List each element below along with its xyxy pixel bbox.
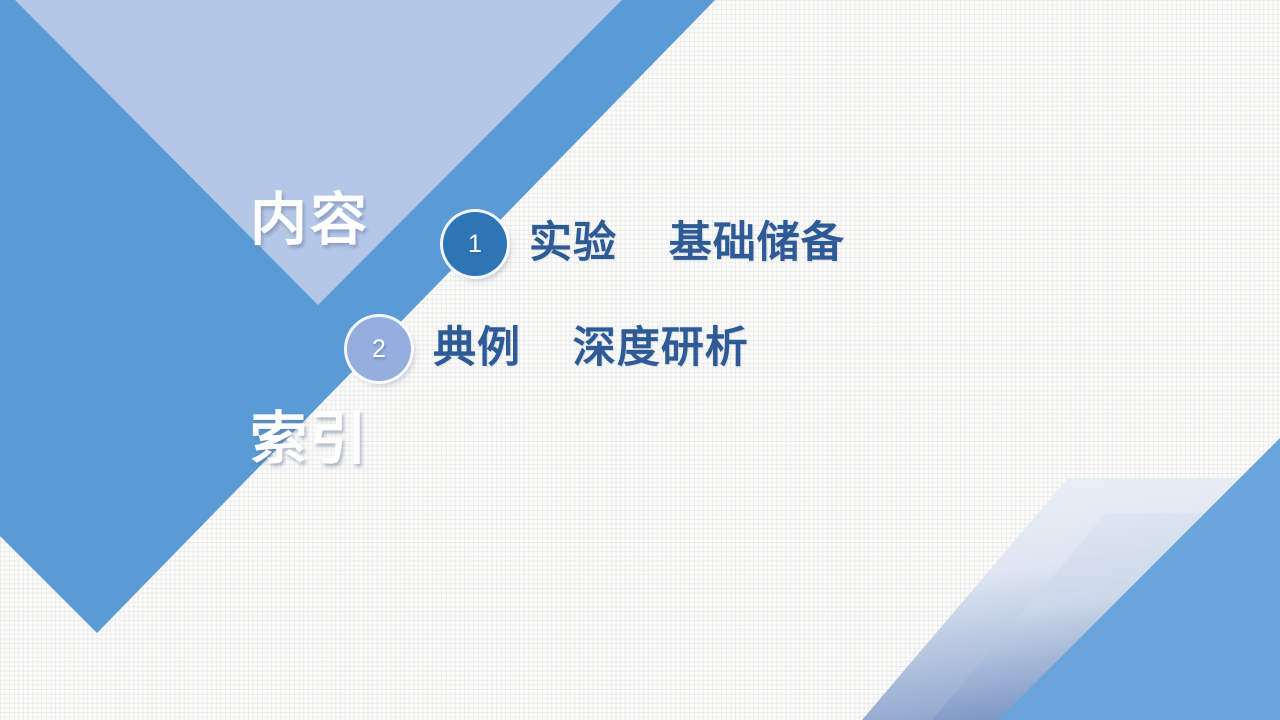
index-label-1: 实验 基础储备 <box>529 220 845 267</box>
index-badge-1[interactable]: 1 <box>443 212 507 276</box>
slide-canvas: 内容 索引 1 实验 基础储备 2 典例 深度研析 <box>0 0 1280 720</box>
index-item-2[interactable]: 2 典例 深度研析 <box>347 317 749 381</box>
index-item-1[interactable]: 1 实验 基础储备 <box>443 212 845 276</box>
index-list: 1 实验 基础储备 2 典例 深度研析 <box>0 0 1280 720</box>
index-badge-2[interactable]: 2 <box>347 317 411 381</box>
index-label-2: 典例 深度研析 <box>433 325 749 372</box>
